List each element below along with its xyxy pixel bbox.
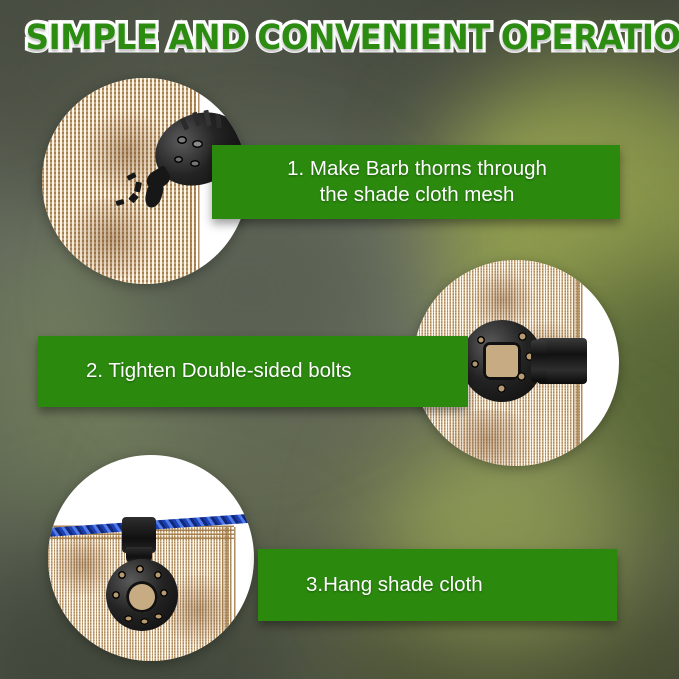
step-1-text: 1. Make Barb thorns through the shade cl…: [252, 156, 582, 208]
step-2-banner: 2. Tighten Double-sided bolts: [38, 336, 468, 407]
infographic-page: SIMPLE AND CONVENIENT OPERATION: [0, 0, 679, 679]
step-3-photo: [48, 455, 254, 661]
page-title-text: SIMPLE AND CONVENIENT OPERATION: [26, 18, 679, 58]
step-2-text: 2. Tighten Double-sided bolts: [86, 358, 352, 384]
page-title: SIMPLE AND CONVENIENT OPERATION: [0, 18, 679, 58]
step-3-banner: 3.Hang shade cloth: [258, 549, 617, 621]
step-1-banner: 1. Make Barb thorns through the shade cl…: [212, 145, 620, 219]
step-3-text: 3.Hang shade cloth: [306, 572, 483, 598]
